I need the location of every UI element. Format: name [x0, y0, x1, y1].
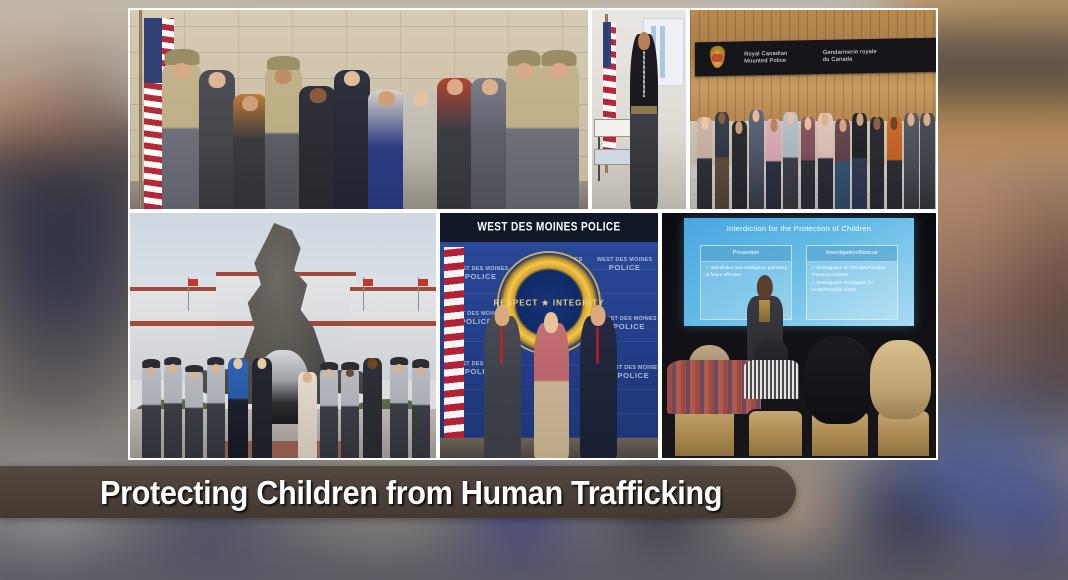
person — [199, 70, 236, 209]
audience-member-head — [870, 340, 930, 418]
person — [162, 62, 201, 209]
person — [801, 117, 816, 209]
head — [209, 72, 226, 87]
head — [309, 88, 326, 103]
head — [757, 275, 773, 300]
person — [852, 113, 867, 209]
photo-west-des-moines-police: WEST DES MOINES POLICE WEST DES MOINES P… — [438, 211, 660, 460]
photo-statue-troopers — [128, 211, 438, 460]
slide-bullet: Investigation of Offender/Possible Threa… — [811, 265, 893, 278]
lanyard-icon — [759, 300, 770, 322]
person — [299, 86, 336, 209]
rcmp-sign: Royal Canadian Mounted Police Gendarmeri… — [695, 37, 938, 76]
person — [471, 78, 508, 209]
slide-bullet-list: Interdiction and Intelligence gathering … — [706, 265, 788, 280]
person — [870, 117, 885, 209]
head — [169, 364, 177, 373]
person — [749, 110, 764, 210]
head — [346, 369, 354, 377]
person — [298, 372, 316, 458]
person — [390, 362, 408, 458]
person — [164, 362, 182, 458]
head — [303, 372, 311, 382]
person — [715, 112, 730, 210]
head — [258, 358, 267, 369]
audience-member-head — [804, 336, 873, 424]
rcmp-sign-french: Gendarmerie royale du Canada — [823, 49, 877, 64]
photo-classroom-instructor — [590, 8, 688, 211]
person — [368, 90, 405, 209]
head — [368, 358, 377, 369]
person — [580, 316, 617, 458]
head — [325, 369, 333, 377]
head — [908, 113, 915, 125]
head — [233, 358, 242, 369]
whiteboard-stripe — [660, 26, 665, 79]
head — [515, 63, 532, 79]
person — [783, 112, 798, 210]
person — [540, 62, 579, 209]
person — [766, 119, 781, 209]
person — [252, 358, 272, 458]
slide-bullet: Investigative Techniques for Victim/Poss… — [811, 280, 893, 293]
rcmp-sign-english: Royal Canadian Mounted Police — [744, 51, 787, 65]
head — [891, 117, 898, 130]
presentation-slide: Interdiction for the Protection of Child… — [684, 218, 914, 326]
slide-column-investigation: Investigation/Rescue Investigation of Of… — [806, 245, 898, 320]
head — [787, 112, 794, 125]
person — [320, 367, 338, 458]
backdrop-tile: WEST DES MOINES POLICE — [597, 258, 652, 272]
head — [495, 305, 510, 326]
backdrop-header-text: WEST DES MOINES POLICE — [477, 221, 620, 234]
audience-member-striped-shirt — [744, 360, 799, 399]
instructor — [630, 34, 658, 209]
head — [344, 71, 360, 86]
head — [701, 117, 708, 130]
person — [697, 117, 712, 209]
page-title: Protecting Children from Human Trafficki… — [100, 476, 722, 509]
person — [265, 66, 302, 209]
photo-audience-presentation: Interdiction for the Protection of Child… — [660, 211, 938, 460]
person — [228, 358, 248, 458]
person — [185, 370, 203, 458]
head — [591, 305, 606, 326]
photo-rcmp-group: Royal Canadian Mounted Police Gendarmeri… — [688, 8, 938, 211]
title-banner: Protecting Children from Human Trafficki… — [0, 466, 796, 518]
person — [818, 113, 833, 209]
head — [718, 112, 725, 125]
head — [242, 96, 258, 111]
head — [839, 119, 846, 132]
head — [856, 113, 863, 125]
flag-pole — [139, 10, 142, 209]
head — [753, 110, 760, 123]
head — [190, 372, 198, 380]
flag-icon — [363, 279, 373, 286]
head — [413, 91, 429, 107]
head — [172, 63, 191, 79]
slide-title: Interdiction for the Protection of Child… — [684, 224, 914, 233]
person — [732, 121, 747, 209]
person — [920, 113, 935, 209]
slide-column-heading: Prevention — [701, 246, 791, 262]
banquet-chair — [747, 409, 805, 458]
necktie-icon — [500, 327, 503, 364]
head — [770, 119, 777, 132]
police-seal-motto: RESPECT ★ INTEGRITY — [493, 299, 604, 308]
head — [822, 113, 829, 125]
person — [403, 90, 440, 209]
person — [341, 367, 359, 458]
classroom-table — [594, 149, 632, 165]
person — [207, 362, 225, 458]
person — [904, 113, 919, 209]
head — [805, 117, 812, 130]
person — [437, 78, 474, 209]
head — [550, 63, 568, 79]
flag-icon — [188, 279, 198, 286]
head — [924, 113, 931, 125]
person — [506, 62, 543, 209]
us-flag-icon — [444, 247, 464, 438]
backdrop-header: WEST DES MOINES POLICE — [440, 213, 658, 242]
slide-column-heading: Investigation/Rescue — [807, 246, 897, 262]
photo-texas-group — [128, 8, 590, 211]
backdrop-tile-line2: POLICE — [597, 264, 652, 272]
person — [363, 358, 383, 458]
person — [534, 323, 569, 458]
person — [484, 316, 521, 458]
duty-belt — [631, 106, 657, 115]
person — [835, 119, 850, 209]
person — [142, 365, 160, 458]
slide-bullet: Interdiction and Intelligence gathering … — [706, 265, 788, 278]
head — [544, 312, 558, 332]
photo-collage: Royal Canadian Mounted Police Gendarmeri… — [128, 8, 938, 460]
head — [736, 121, 743, 133]
flag-icon — [418, 279, 428, 286]
person — [334, 70, 371, 209]
person — [887, 117, 902, 209]
head — [417, 367, 425, 375]
head — [378, 91, 394, 107]
head — [395, 364, 403, 373]
head — [447, 79, 463, 95]
necktie-icon — [596, 327, 599, 364]
person — [412, 365, 430, 458]
necktie-icon — [643, 51, 646, 97]
head — [638, 32, 650, 50]
rcmp-crest-icon — [710, 46, 725, 68]
slide-bullet-list: Investigation of Offender/Possible Threa… — [811, 265, 893, 296]
head — [275, 69, 292, 85]
head — [873, 117, 880, 130]
head — [481, 79, 497, 95]
person — [233, 94, 267, 209]
head — [147, 367, 155, 375]
head — [212, 364, 220, 373]
